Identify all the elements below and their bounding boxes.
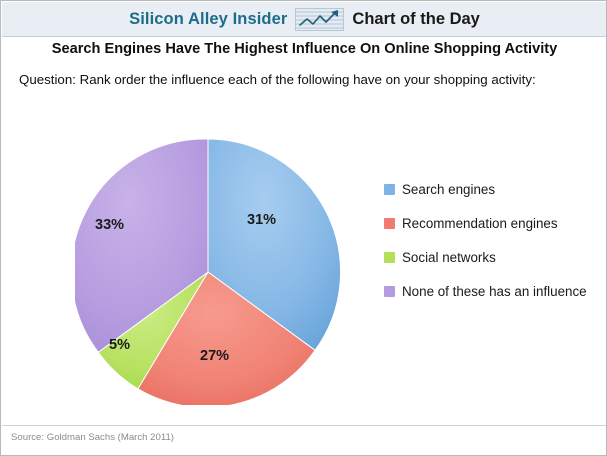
pie-value-label-recommendation-engines: 27% <box>200 348 229 364</box>
legend-swatch-icon <box>384 184 395 195</box>
legend-swatch-icon <box>384 252 395 263</box>
header-band: Silicon Alley Insider Chart of the Day <box>2 2 607 37</box>
pie-value-label-none-of-these: 33% <box>95 217 124 233</box>
page-title: Search Engines Have The Highest Influenc… <box>1 41 607 57</box>
legend-item-none-of-these: None of these has an influence <box>384 283 589 300</box>
line-chart-upward-arrow-icon <box>295 8 344 31</box>
section-label: Chart of the Day <box>352 10 479 29</box>
footer-divider <box>2 425 607 426</box>
pie-chart: 31% 27% 5% 33% <box>75 139 341 405</box>
pie-value-label-search-engines: 31% <box>247 212 276 228</box>
source-note: Source: Goldman Sachs (March 2011) <box>11 432 174 443</box>
legend-label: Social networks <box>402 249 496 266</box>
legend-item-recommendation-engines: Recommendation engines <box>384 215 589 232</box>
pie-value-label-social-networks: 5% <box>109 337 130 353</box>
legend-swatch-icon <box>384 286 395 297</box>
chart-legend: Search engines Recommendation engines So… <box>384 181 589 317</box>
legend-swatch-icon <box>384 218 395 229</box>
brand-name: Silicon Alley Insider <box>129 10 287 29</box>
legend-item-social-networks: Social networks <box>384 249 589 266</box>
legend-item-search-engines: Search engines <box>384 181 589 198</box>
chart-subtitle: Question: Rank order the influence each … <box>19 72 599 87</box>
chart-of-the-day-slide: Silicon Alley Insider Chart of the Day S… <box>0 0 607 456</box>
legend-label: Recommendation engines <box>402 215 558 232</box>
legend-label: None of these has an influence <box>402 283 587 300</box>
legend-label: Search engines <box>402 181 495 198</box>
